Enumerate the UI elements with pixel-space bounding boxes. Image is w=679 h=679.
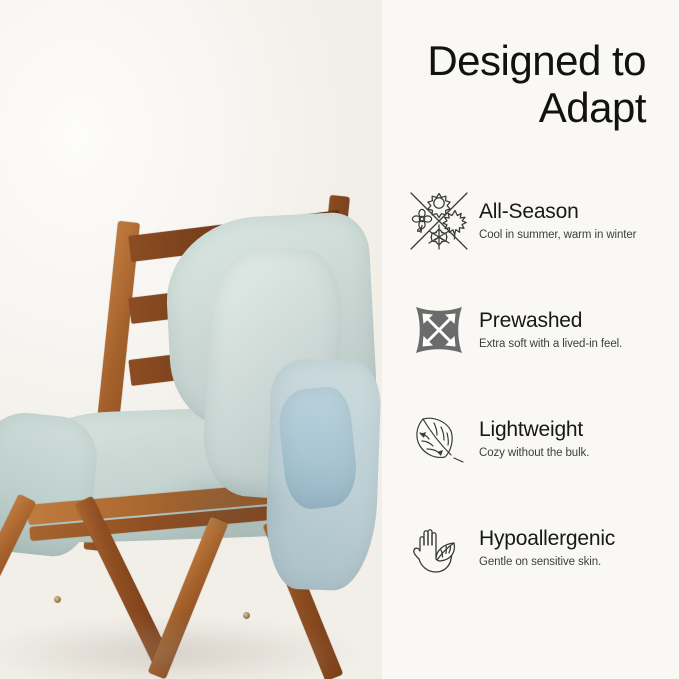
feature-item-lightweight: Lightweight Cozy without the bulk. bbox=[403, 404, 679, 474]
feature-panel: Designed to Adapt bbox=[382, 0, 679, 679]
feature-title: Prewashed bbox=[479, 309, 679, 334]
feature-title: Hypoallergenic bbox=[479, 527, 679, 552]
feature-item-prewashed: Prewashed Extra soft with a lived-in fee… bbox=[403, 295, 679, 365]
feature-list: All-Season Cool in summer, warm in winte… bbox=[403, 186, 679, 583]
headline-line-1: Designed to bbox=[388, 37, 646, 84]
feather-icon bbox=[403, 404, 475, 474]
feature-text: Hypoallergenic Gentle on sensitive skin. bbox=[475, 527, 679, 569]
feature-subtitle: Gentle on sensitive skin. bbox=[479, 555, 679, 569]
headline-line-2: Adapt bbox=[388, 84, 646, 131]
product-feature-card: Designed to Adapt bbox=[0, 0, 679, 679]
pillow-arrows-icon bbox=[403, 295, 475, 365]
feature-item-hypoallergenic: Hypoallergenic Gentle on sensitive skin. bbox=[403, 513, 679, 583]
feature-subtitle: Cool in summer, warm in winter bbox=[479, 228, 679, 242]
four-seasons-icon bbox=[403, 186, 475, 256]
blanket-shadow bbox=[150, 470, 300, 540]
feature-text: All-Season Cool in summer, warm in winte… bbox=[475, 200, 679, 242]
feature-title: All-Season bbox=[479, 200, 679, 225]
feature-title: Lightweight bbox=[479, 418, 679, 443]
feature-text: Lightweight Cozy without the bulk. bbox=[475, 418, 679, 460]
floor-shadow bbox=[0, 599, 382, 679]
feature-subtitle: Extra soft with a lived-in feel. bbox=[479, 337, 679, 351]
feature-text: Prewashed Extra soft with a lived-in fee… bbox=[475, 309, 679, 351]
hand-leaf-icon bbox=[403, 513, 475, 583]
product-photo bbox=[0, 0, 382, 679]
page-title: Designed to Adapt bbox=[388, 37, 646, 131]
feature-subtitle: Cozy without the bulk. bbox=[479, 446, 679, 460]
feature-item-all-season: All-Season Cool in summer, warm in winte… bbox=[403, 186, 679, 256]
